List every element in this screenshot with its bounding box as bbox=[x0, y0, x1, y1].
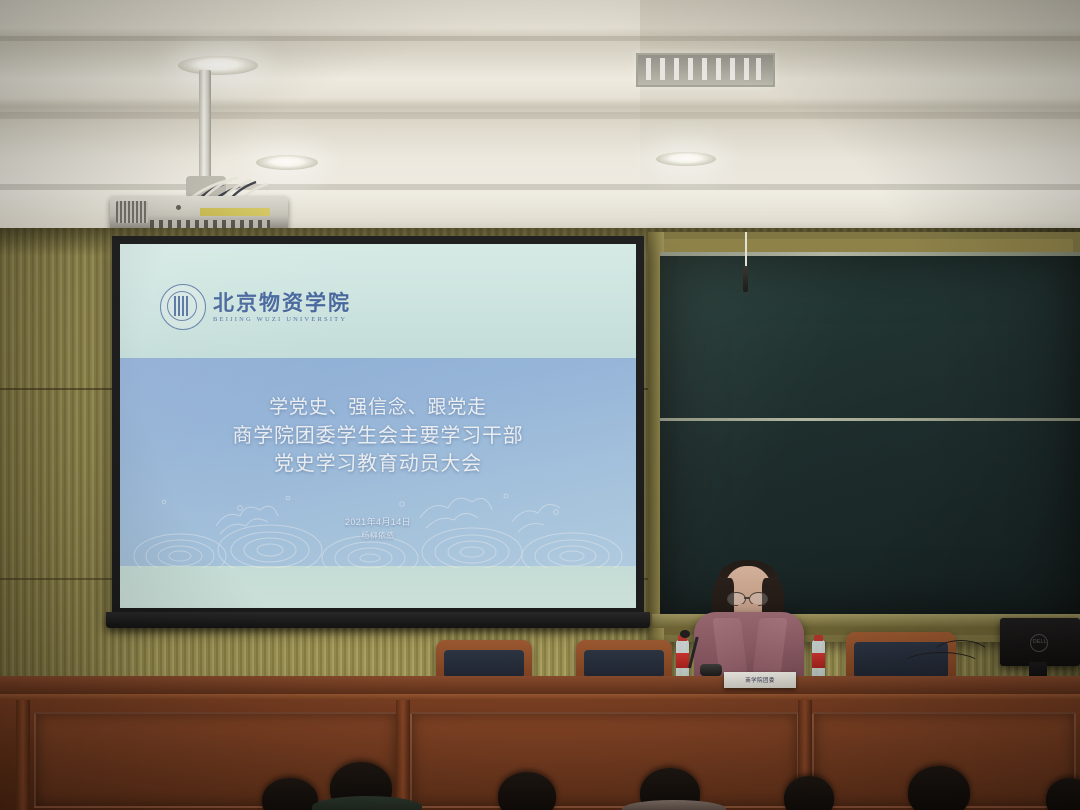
slide-date: 2021年4月14日 bbox=[120, 516, 636, 530]
ceiling-downlight-icon bbox=[656, 152, 716, 166]
water-bottle bbox=[812, 640, 825, 680]
desk-panel bbox=[410, 712, 799, 808]
projector-label bbox=[200, 208, 270, 216]
slide-bottom-band bbox=[120, 566, 636, 608]
monitor-brand-label: DELL bbox=[1033, 639, 1047, 645]
slide-presenter-note: 杨柳依依 bbox=[120, 530, 636, 542]
slide-title-line-2: 商学院团委学生会主要学习干部 bbox=[120, 421, 636, 449]
ceiling-downlight-icon bbox=[178, 56, 258, 75]
slide-title-line-1: 学党史、强信念、跟党走 bbox=[120, 394, 636, 421]
projector-port-panel bbox=[150, 220, 270, 228]
desk-pilaster bbox=[16, 700, 30, 810]
desk-pilaster bbox=[396, 700, 410, 810]
university-seal-icon bbox=[160, 284, 206, 330]
audience-head bbox=[908, 766, 970, 810]
logo-english-name: BEIJING WUZI UNIVERSITY bbox=[213, 316, 351, 323]
name-card-text: 商学院团委 bbox=[745, 676, 775, 684]
desk-microphone-base bbox=[700, 664, 722, 676]
logo-chinese-name: 北京物资学院 bbox=[213, 292, 351, 313]
presentation-slide: 北京物资学院 BEIJING WUZI UNIVERSITY 学党史、强信念、跟… bbox=[120, 244, 636, 608]
university-logo: 北京物资学院 BEIJING WUZI UNIVERSITY bbox=[160, 284, 351, 330]
slide-title: 学党史、强信念、跟党走 商学院团委学生会主要学习干部 党史学习教育动员大会 bbox=[120, 394, 636, 478]
lecture-hall-photo: 北京物资学院 BEIJING WUZI UNIVERSITY 学党史、强信念、跟… bbox=[0, 0, 1080, 810]
slide-metadata: 2021年4月14日 杨柳依依 bbox=[120, 516, 636, 542]
dell-logo-icon: DELL bbox=[1030, 634, 1048, 652]
water-bottle bbox=[676, 640, 689, 680]
slide-title-line-3: 党史学习教育动员大会 bbox=[120, 449, 636, 477]
desk-cable bbox=[930, 640, 992, 676]
monitor-stand bbox=[1029, 662, 1047, 676]
recessed-grille-light-icon bbox=[636, 53, 775, 87]
name-card: 商学院团委 bbox=[724, 672, 796, 688]
hanging-microphone-icon bbox=[743, 266, 748, 292]
blackboard-gloss bbox=[660, 252, 1080, 620]
projection-screen-bottom-bar bbox=[106, 612, 650, 628]
hanging-microphone-wire bbox=[745, 232, 747, 270]
projector-vent bbox=[116, 201, 148, 223]
projector-indicator-led bbox=[176, 205, 181, 210]
eyeglasses-bridge bbox=[744, 597, 750, 599]
desk-microphone-icon bbox=[680, 630, 690, 638]
podium-desk-top bbox=[0, 676, 1080, 696]
